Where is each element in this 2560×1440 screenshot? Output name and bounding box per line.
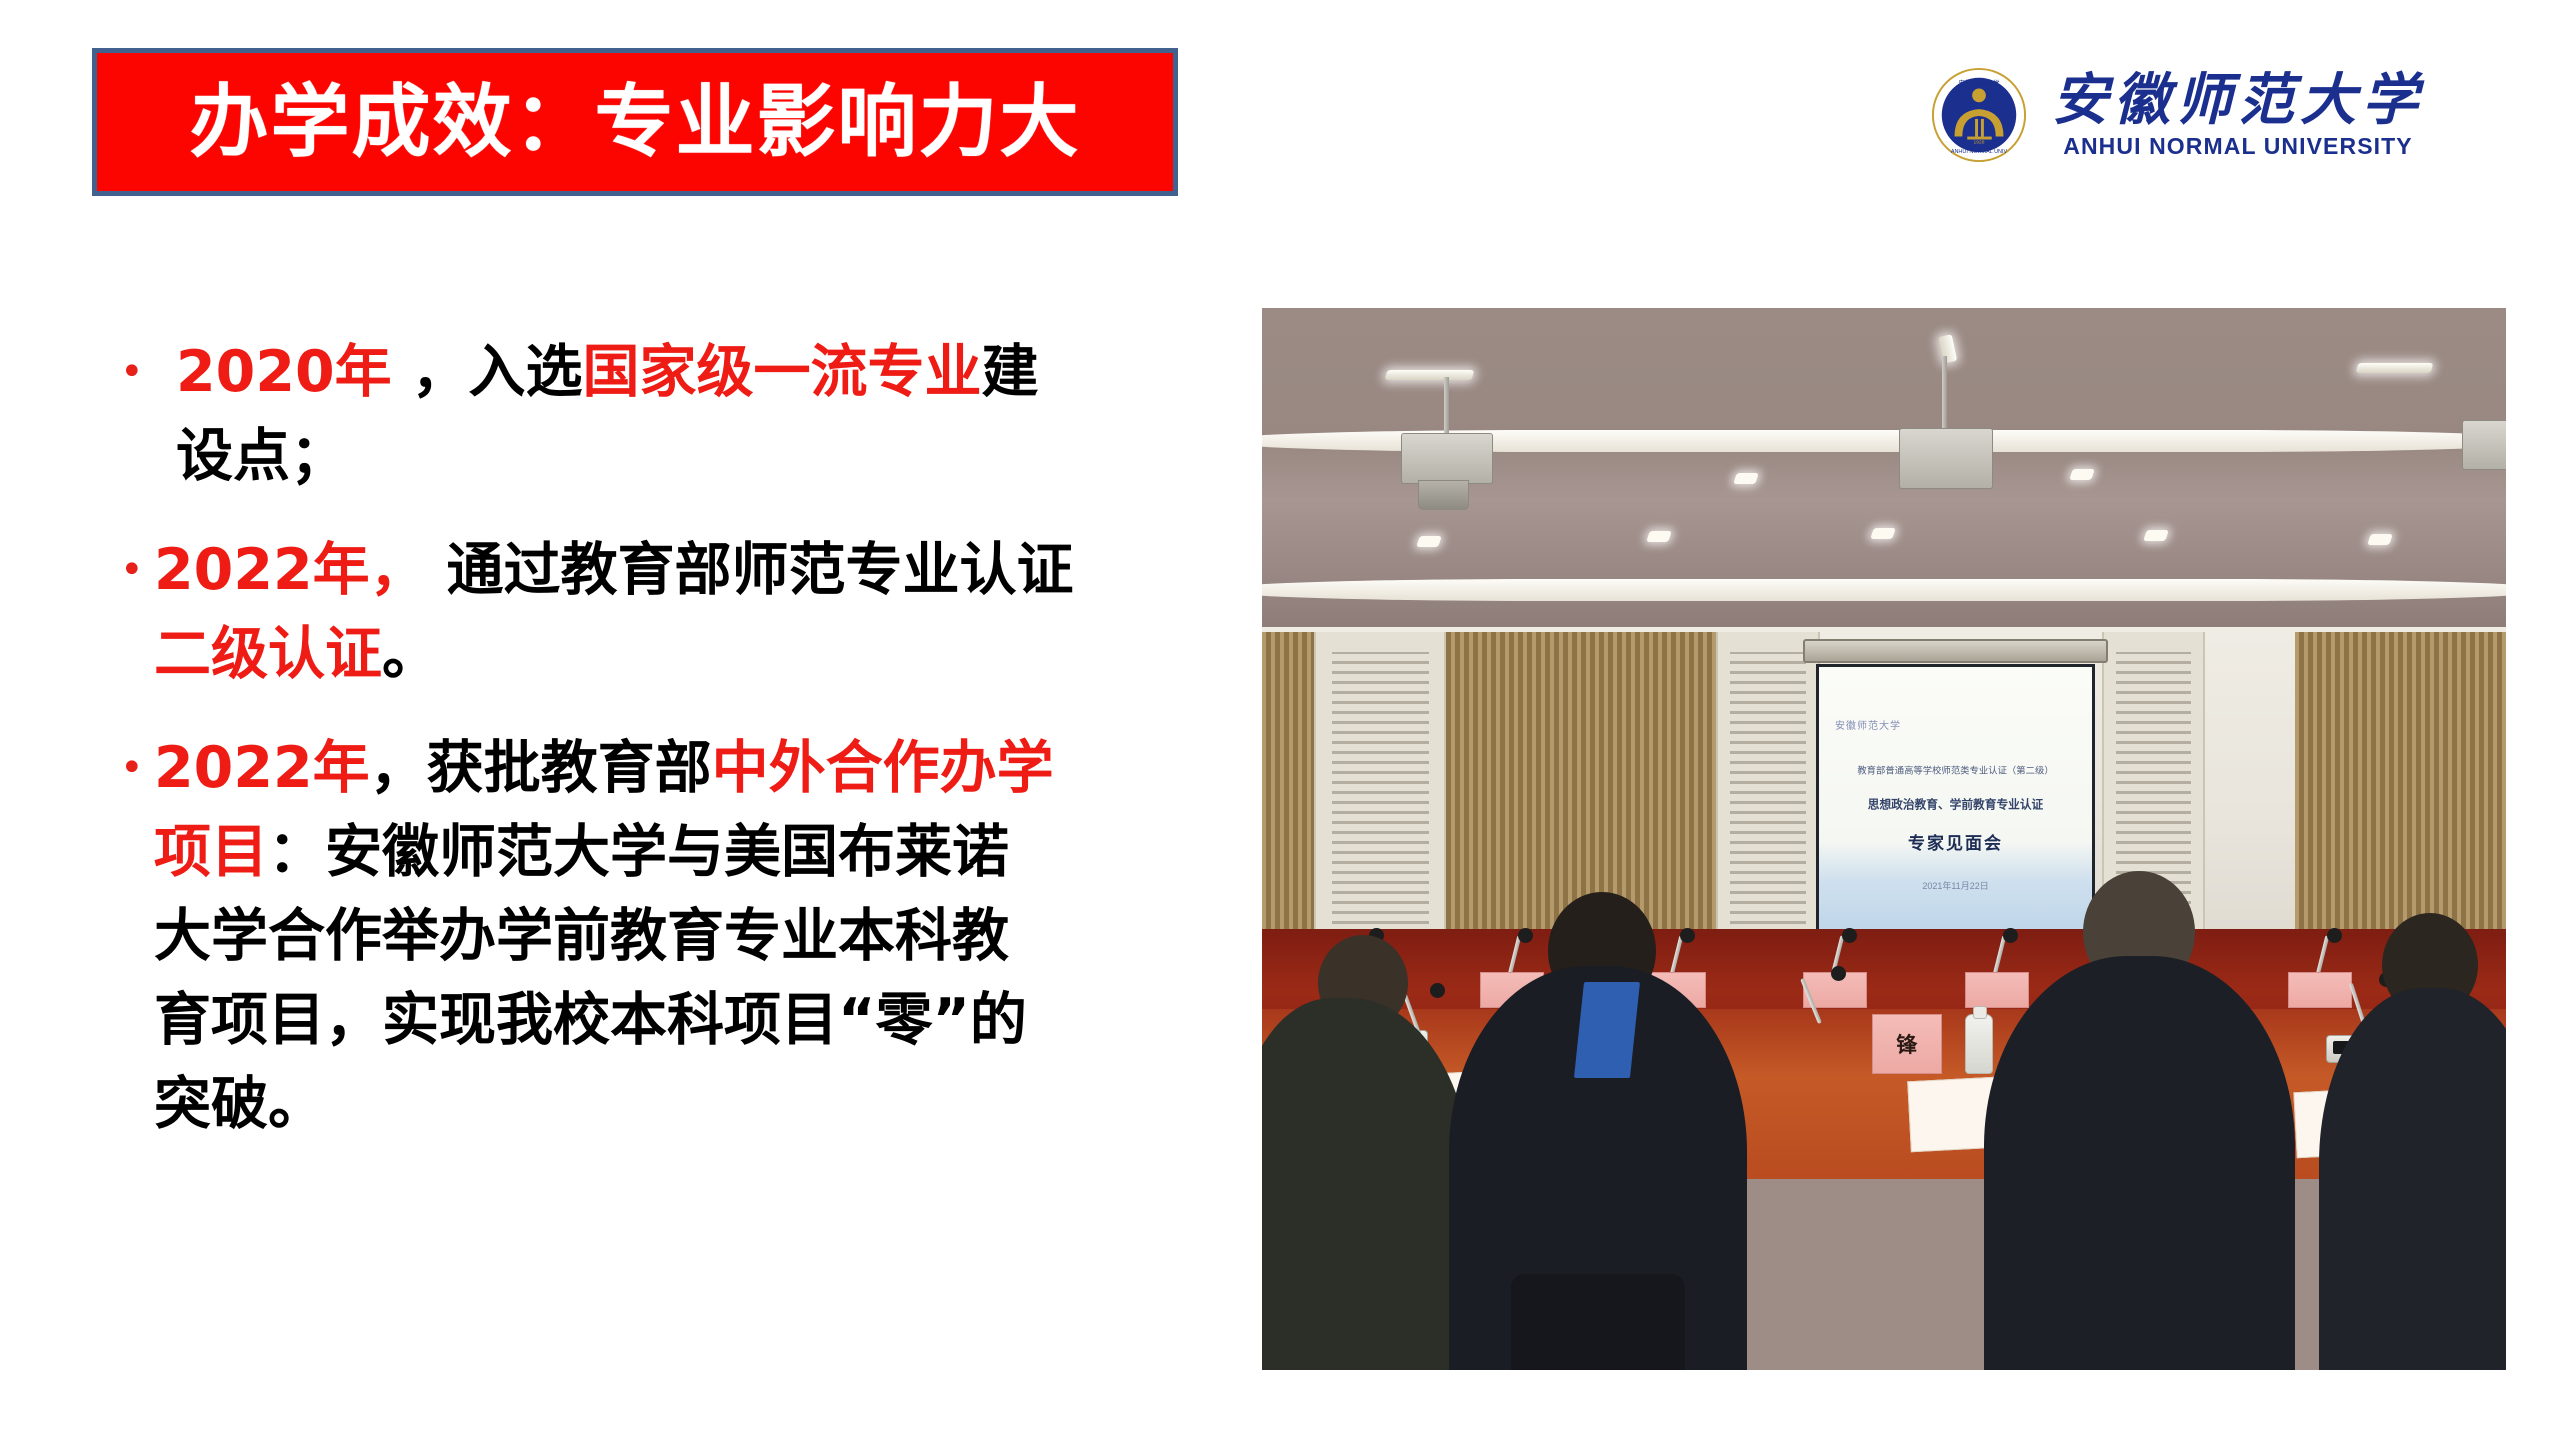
name-placard [2288, 972, 2352, 1008]
projection-screen-housing [1803, 639, 2108, 662]
screen-line-3: 专家见面会 [1908, 829, 2003, 854]
bullet-line: 育项目，实现我校本科项目“零”的 [154, 978, 1054, 1062]
ceiling-projector-icon [1401, 433, 1493, 484]
projector-mount [1444, 377, 1449, 435]
bullet-span: ，获批教育部 [370, 735, 712, 801]
chair-back [1511, 1274, 1685, 1370]
bullet-span: 项目 [154, 819, 268, 885]
name-placard [1965, 972, 2029, 1008]
screen-line-2: 思想政治教育、学前教育专业认证 [1868, 795, 2044, 812]
bullet-text: 2020年 ，入选国家级一流专业建 设点； [154, 330, 1039, 498]
microphone-head-icon [2327, 928, 2342, 943]
bullet-span: 2020年 [176, 339, 392, 405]
screen-line-1: 教育部普通高等学校师范类专业认证（第二级） [1857, 763, 2053, 777]
svg-text:ANHUI NORMAL UNIV: ANHUI NORMAL UNIV [1951, 149, 2008, 155]
page-title: 办学成效：专业影响力大 [190, 83, 1081, 162]
bullet-line: 二级认证。 [154, 612, 1074, 696]
ceiling-led-icon [2355, 363, 2432, 373]
bullet-span: 中外合作办学 [712, 735, 1054, 801]
ceiling-downlight-icon [2069, 469, 2095, 480]
bullet-marker: • [120, 726, 154, 810]
ceiling-downlight-icon [1870, 528, 1896, 539]
list-item: • 2022年， 通过教育部师范专业认证 二级认证。 [120, 528, 1210, 696]
bullet-span: 通过教育部师范专业认证 [427, 537, 1074, 603]
university-name-en: ANHUI NORMAL UNIVERSITY [2052, 135, 2424, 158]
bullet-list: • 2020年 ，入选国家级一流专业建 设点； • 2022年， 通过教育部师范… [120, 330, 1210, 1176]
ceiling-downlight-icon [1733, 473, 1759, 484]
list-item: • 2022年，获批教育部中外合作办学 项目：安徽师范大学与美国布莱诺 大学合作… [120, 726, 1210, 1146]
ceiling-projector-lens-icon [1418, 480, 1470, 510]
bullet-span: 育项目，实现我校本科项目“零”的 [154, 987, 1027, 1053]
university-logo-names: 安徽师范大学 ANHUI NORMAL UNIVERSITY [2052, 72, 2424, 158]
bullet-line: 2022年， 通过教育部师范专业认证 [154, 528, 1074, 612]
bullet-text: 2022年，获批教育部中外合作办学 项目：安徽师范大学与美国布莱诺 大学合作举办… [154, 726, 1054, 1146]
bullet-span: 2022年， [154, 537, 427, 603]
university-emblem-icon: 安徽师范大学 ANHUI NORMAL UNIV 1928 [1930, 66, 2028, 164]
bullet-line: 大学合作举办学前教育专业本科教 [154, 894, 1054, 978]
conference-room-photo: 安徽师范大学 教育部普通高等学校师范类专业认证（第二级） 思想政治教育、学前教育… [1262, 308, 2506, 1370]
slide-title-banner: 办学成效：专业影响力大 [92, 48, 1178, 196]
foreground-person [2319, 988, 2506, 1370]
ceiling-downlight-icon [2367, 534, 2393, 545]
bullet-span: 2022年 [154, 735, 370, 801]
bullet-span: 国家级一流专业 [583, 339, 982, 405]
list-item: • 2020年 ，入选国家级一流专业建 设点； [120, 330, 1210, 498]
bullet-line: 2020年 ，入选国家级一流专业建 [176, 330, 1039, 414]
bullet-marker: • [120, 330, 154, 414]
ceiling-projector-icon [1899, 428, 1993, 489]
photo-ceiling-light-band [1262, 579, 2506, 601]
bullet-line: 2022年，获批教育部中外合作办学 [154, 726, 1054, 810]
foreground-person [1984, 956, 2295, 1370]
microphone-head-icon [1842, 928, 1857, 943]
bullet-line: 突破。 [154, 1062, 1054, 1146]
projector-mount [1942, 356, 1947, 430]
bullet-line: 设点； [176, 414, 1039, 498]
svg-text:1928: 1928 [1974, 139, 1985, 145]
bullet-span: 大学合作举办学前教育专业本科教 [154, 903, 1009, 969]
bullet-line: 项目：安徽师范大学与美国布莱诺 [154, 810, 1054, 894]
ceiling-projector-icon [2462, 420, 2506, 471]
ceiling-led-icon [1385, 370, 1475, 380]
bullet-span: 突破。 [154, 1071, 325, 1137]
slide-root: 办学成效：专业影响力大 安徽师范大学 ANHUI NORMAL UNIV 192… [0, 0, 2560, 1440]
svg-text:安徽师范大学: 安徽师范大学 [1958, 79, 1999, 88]
name-placard: 锋 [1872, 1014, 1942, 1073]
bullet-marker: • [120, 528, 154, 612]
bullet-span: 二级认证 [154, 621, 382, 687]
lanyard [1574, 982, 1640, 1078]
water-bottle [1965, 1014, 1993, 1074]
bullet-span: ，入选 [392, 339, 583, 405]
bullet-span: 设点； [176, 423, 347, 489]
bullet-span: 建 [982, 339, 1039, 405]
bullet-span: 。 [382, 621, 439, 687]
university-name-cn: 安徽师范大学 [2052, 72, 2424, 128]
ceiling-downlight-icon [1646, 531, 1672, 542]
microphone-head-icon [1831, 966, 1846, 981]
ceiling-downlight-icon [2143, 530, 2169, 541]
bullet-span: ：安徽师范大学与美国布莱诺 [268, 819, 1009, 885]
bullet-text: 2022年， 通过教育部师范专业认证 二级认证。 [154, 528, 1074, 696]
screen-org-mark: 安徽师范大学 [1835, 717, 1901, 732]
ceiling-downlight-icon [1416, 536, 1442, 547]
university-logo: 安徽师范大学 ANHUI NORMAL UNIV 1928 安徽师范大学 ANH… [1930, 60, 2460, 170]
